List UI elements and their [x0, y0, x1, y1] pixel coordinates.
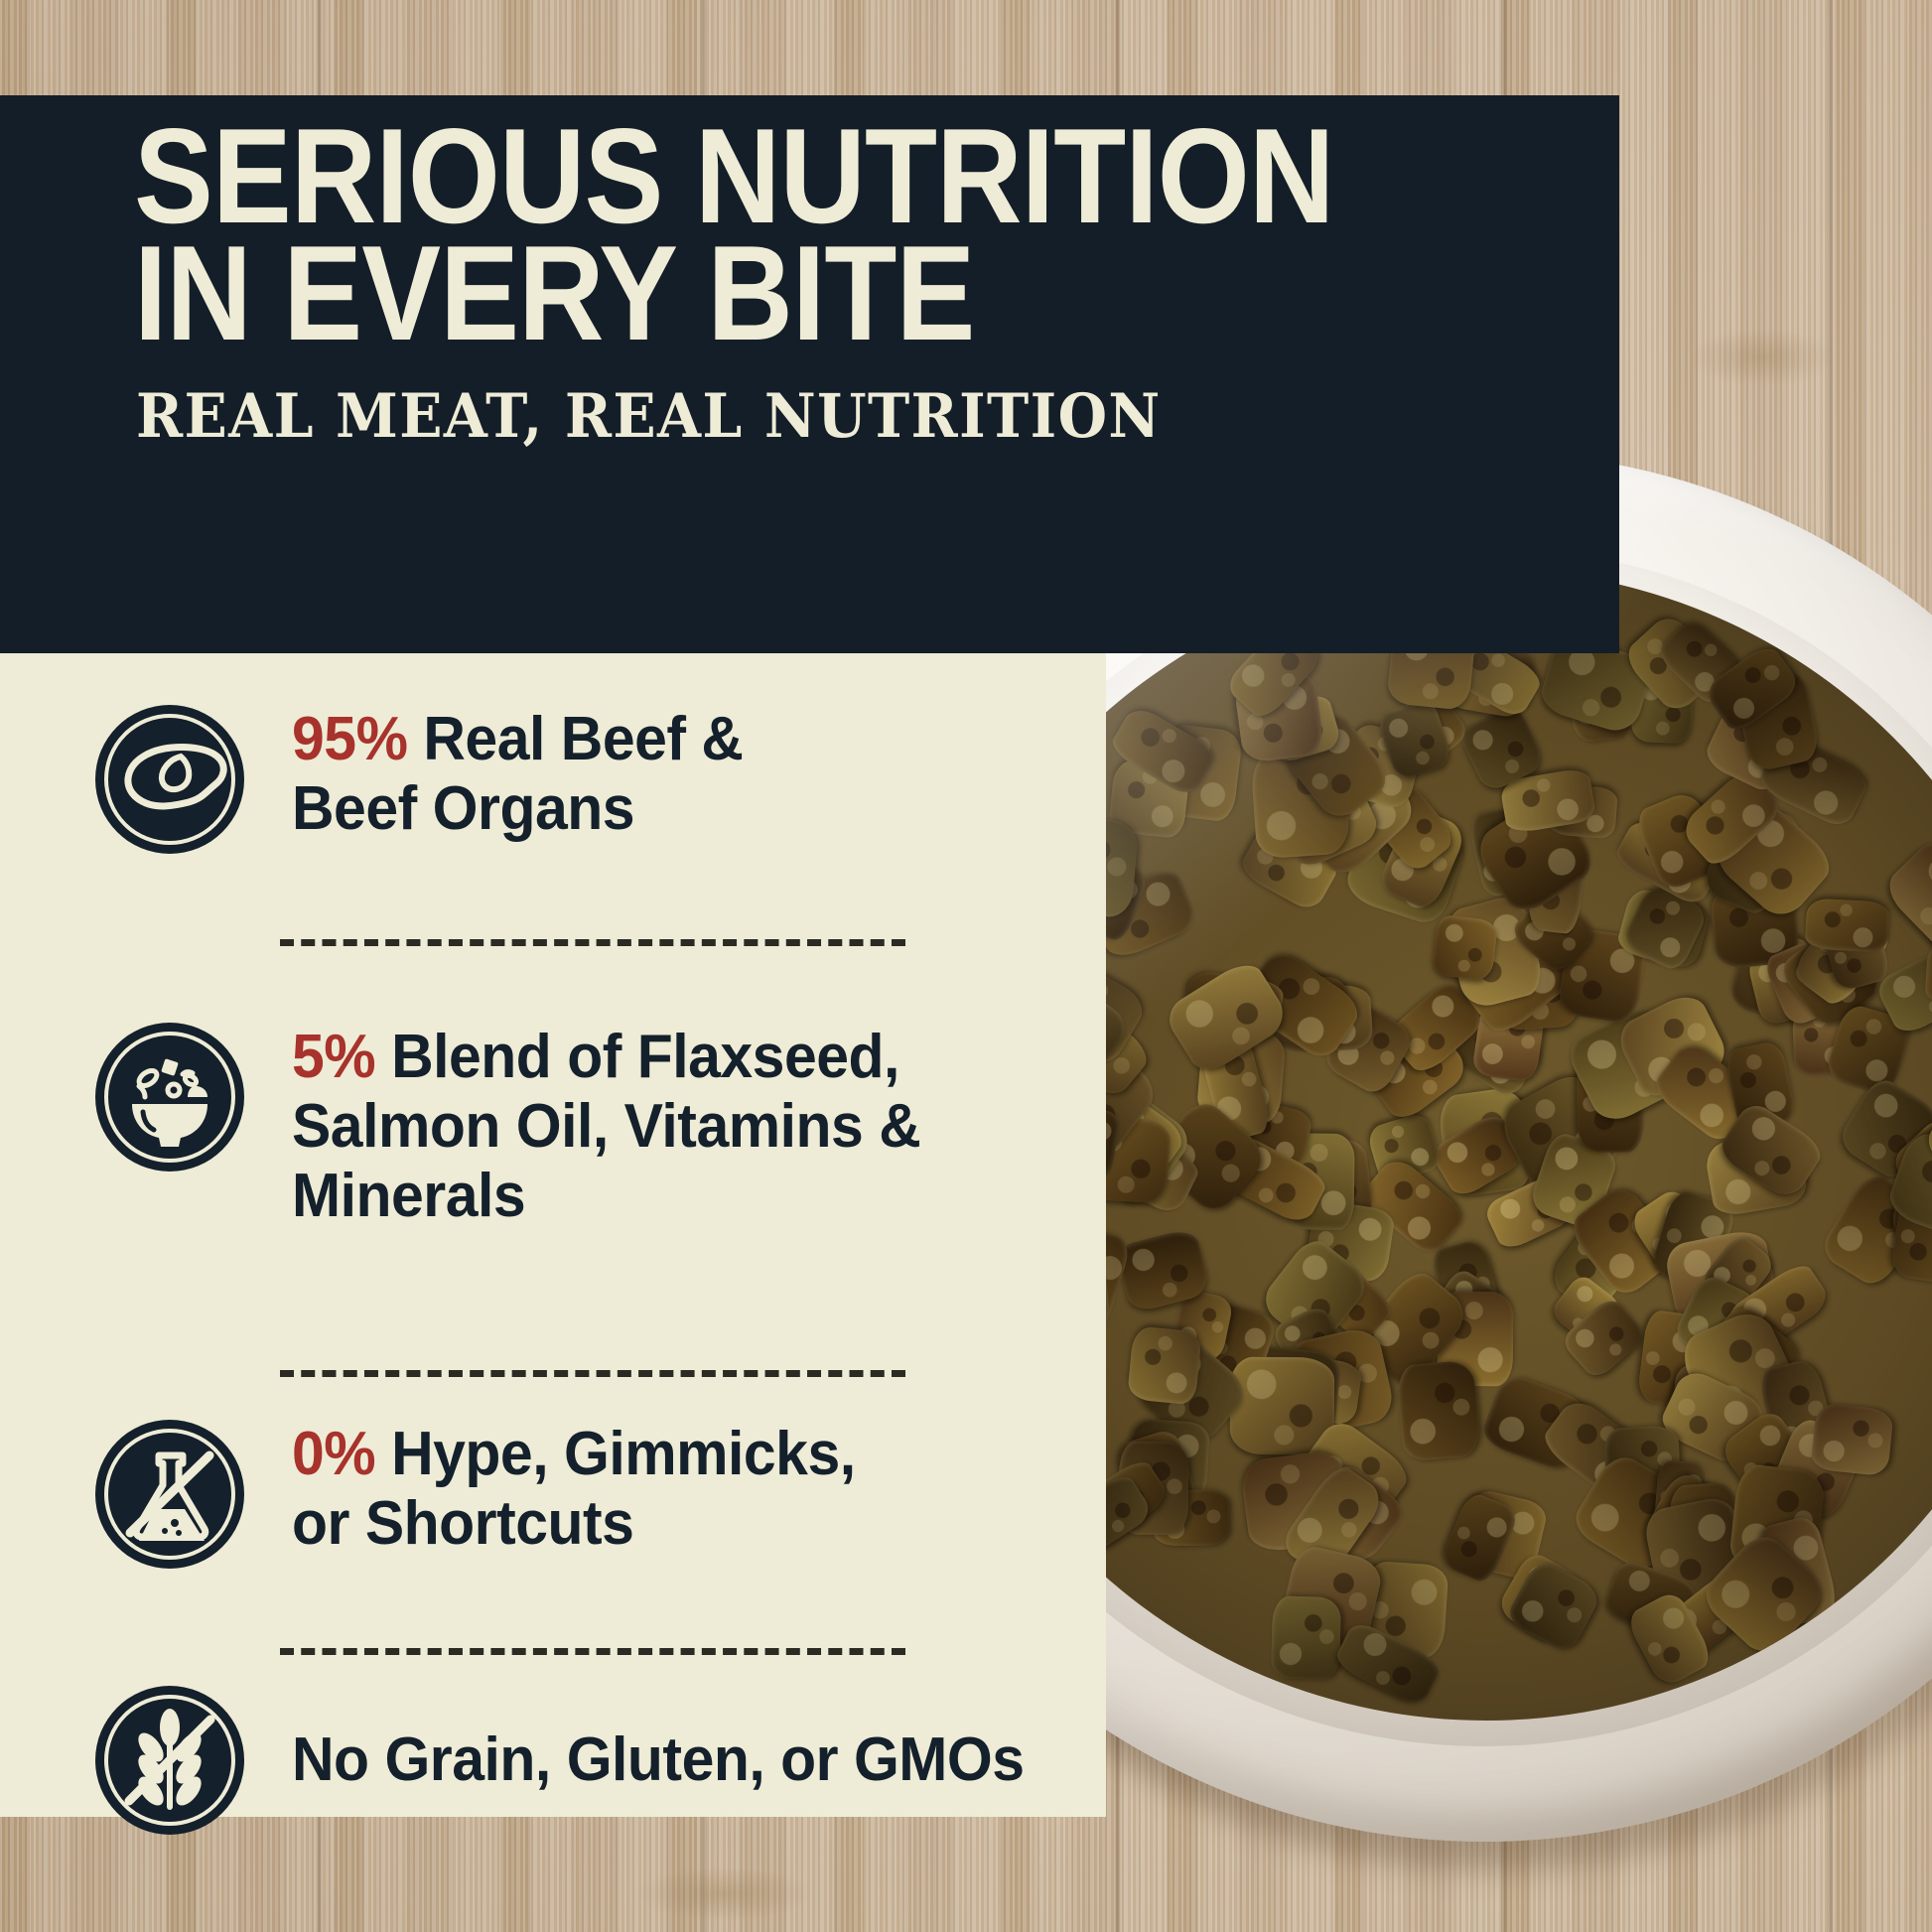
- feature-text: Blend of Flaxseed, Salmon Oil, Vitamins …: [292, 1023, 920, 1230]
- bowl-of-seeds-icon: [95, 1023, 244, 1172]
- page-subtitle: REAL MEAT, REAL NUTRITION: [136, 381, 1162, 452]
- food-piece: [1271, 1596, 1341, 1681]
- feature-row: 95% Real Beef & Beef Organs: [95, 705, 766, 854]
- food-piece: [1805, 898, 1890, 953]
- feature-label: 5% Blend of Flaxseed, Salmon Oil, Vitami…: [292, 1023, 920, 1231]
- steak-icon: [95, 705, 244, 854]
- feature-row: 0% Hype, Gimmicks, or Shortcuts: [95, 1420, 886, 1569]
- food-piece-texture: [1431, 914, 1497, 981]
- no-beaker-glyph: [95, 1420, 244, 1569]
- food-piece: [1127, 1325, 1202, 1406]
- steak-glyph: [95, 705, 244, 854]
- feature-label: No Grain, Gluten, or GMOs: [292, 1725, 1025, 1795]
- feature-text: Hype, Gimmicks, or Shortcuts: [292, 1420, 856, 1558]
- divider: [280, 1370, 905, 1377]
- divider: [280, 1648, 905, 1655]
- feature-row: No Grain, Gluten, or GMOs: [95, 1686, 1062, 1835]
- feature-percent: 5%: [292, 1023, 375, 1091]
- no-beaker-icon: [95, 1420, 244, 1569]
- no-grain-glyph: [95, 1686, 244, 1835]
- bowl-of-seeds-glyph: [95, 1023, 244, 1172]
- food-piece: [1431, 914, 1497, 981]
- promo-graphic: SERIOUS NUTRITION IN EVERY BITE REAL MEA…: [0, 0, 1932, 1932]
- no-grain-icon: [95, 1686, 244, 1835]
- divider: [280, 939, 905, 946]
- food-piece-texture: [1396, 1360, 1480, 1462]
- food-piece: [1810, 1402, 1893, 1476]
- features-panel: 95% Real Beef & Beef Organs 5% B: [0, 653, 1106, 1817]
- feature-label: 0% Hype, Gimmicks, or Shortcuts: [292, 1420, 856, 1559]
- food-piece-texture: [1805, 898, 1890, 953]
- food-piece-texture: [1810, 1402, 1893, 1476]
- feature-percent: 0%: [292, 1420, 375, 1488]
- food-piece: [1396, 1360, 1480, 1462]
- header-panel: SERIOUS NUTRITION IN EVERY BITE REAL MEA…: [0, 95, 1619, 653]
- food-piece-texture: [1271, 1596, 1341, 1681]
- page-title: SERIOUS NUTRITION IN EVERY BITE: [134, 117, 1375, 351]
- feature-text: No Grain, Gluten, or GMOs: [292, 1725, 1025, 1794]
- feature-row: 5% Blend of Flaxseed, Salmon Oil, Vitami…: [95, 1023, 954, 1231]
- feature-percent: 95%: [292, 705, 407, 773]
- food-piece-texture: [1127, 1325, 1202, 1406]
- feature-label: 95% Real Beef & Beef Organs: [292, 705, 743, 844]
